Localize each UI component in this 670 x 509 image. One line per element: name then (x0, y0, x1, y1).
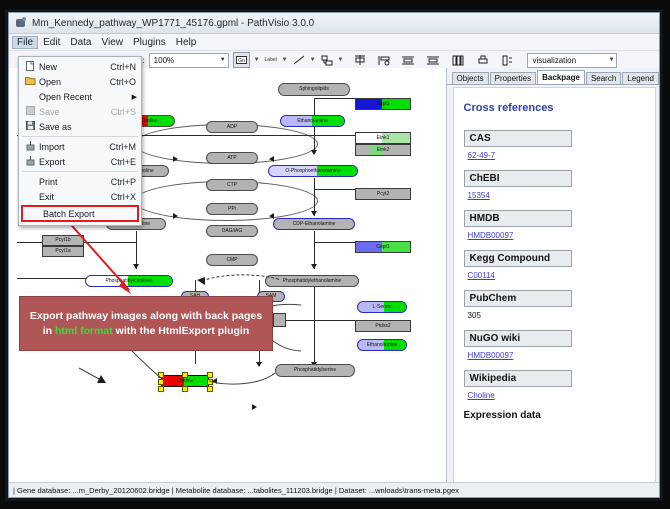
window-title: Mm_Kennedy_pathway_WP1771_45176.gpml - P… (32, 18, 314, 29)
menu-file[interactable]: File (12, 36, 38, 49)
tab-legend[interactable]: Legend (622, 72, 659, 84)
visualization-value: visualization (532, 56, 576, 65)
align-left-icon[interactable] (377, 53, 391, 67)
tab-properties[interactable]: Properties (490, 72, 536, 84)
tab-search[interactable]: Search (586, 72, 621, 84)
annotation-text-highlight: html format (55, 325, 113, 337)
send-to-back-icon[interactable] (426, 53, 440, 67)
menu-item-label: Save (39, 107, 111, 117)
xref-db-chebi: ChEBI (464, 170, 572, 187)
menu-item-new[interactable]: New Ctrl+N (19, 59, 141, 74)
xref-value-hmdb[interactable]: HMDB00097 (468, 231, 645, 240)
menu-item-label: Print (39, 177, 111, 187)
xref-value-pubchem: 305 (468, 311, 645, 320)
label-button[interactable]: Label (264, 53, 278, 67)
export-icon (21, 156, 39, 168)
menu-item-accel: Ctrl+X (111, 192, 141, 202)
menu-item-label: Open Recent (39, 92, 141, 102)
xref-link-nugo[interactable]: HMDB00097 (468, 351, 514, 360)
align-top-icon[interactable] (353, 53, 367, 67)
menu-item-accel: Ctrl+P (111, 177, 141, 187)
menu-help[interactable]: Help (171, 36, 202, 49)
annotation-text: Export pathway images along with back pa… (20, 309, 272, 337)
menu-item-open-recent[interactable]: Open Recent ▶ (19, 89, 141, 104)
xref-link-hmdb[interactable]: HMDB00097 (468, 231, 514, 240)
xref-value-cas[interactable]: 62-49-7 (468, 151, 645, 160)
file-menu-dropdown[interactable]: New Ctrl+N Open Ctrl+O Open Recent ▶ Sav… (18, 56, 142, 226)
menu-bar: File Edit Data View Plugins Help (9, 34, 659, 51)
xref-db-cas: CAS (464, 130, 572, 147)
side-panel: Objects Properties Backpage Search Legen… (447, 68, 659, 497)
datanode-icon[interactable]: Gn (233, 52, 250, 68)
line-tool-icon[interactable] (292, 53, 306, 67)
menu-item-export[interactable]: Export Ctrl+E (19, 154, 141, 169)
methylation-dashed-edge (202, 275, 281, 281)
expression-data-heading: Expression data (464, 410, 645, 421)
menu-item-label: Open (39, 77, 110, 87)
xref-value-nugo[interactable]: HMDB00097 (468, 351, 645, 360)
menu-item-save: Save Ctrl+S (19, 104, 141, 119)
menu-item-label: Exit (39, 192, 111, 202)
menu-item-label: Export (39, 157, 111, 167)
save-disk-icon (21, 106, 39, 117)
xref-link-wikipedia[interactable]: Choline (468, 391, 495, 400)
xref-value-kegg[interactable]: C00114 (468, 271, 645, 280)
methylation-arrowhead (197, 277, 205, 285)
menu-item-accel: Ctrl+S (111, 107, 141, 117)
cross-references-heading: Cross references (464, 102, 645, 114)
menu-item-exit[interactable]: Exit Ctrl+X (19, 189, 141, 204)
menu-item-open[interactable]: Open Ctrl+O (19, 74, 141, 89)
save-as-disk-icon (21, 121, 39, 132)
line-dropdown-icon[interactable]: ▼ (310, 57, 316, 63)
xref-db-wikipedia: Wikipedia (464, 370, 572, 387)
xref-value-chebi[interactable]: 15354 (468, 191, 645, 200)
backpage-content: Cross references CAS 62-49-7 ChEBI 15354… (454, 88, 655, 421)
menu-item-accel: Ctrl+E (111, 157, 141, 167)
import-icon (21, 141, 39, 153)
xref-value-wikipedia[interactable]: Choline (468, 391, 645, 400)
backpage-scroll-area[interactable]: Cross references CAS 62-49-7 ChEBI 15354… (453, 87, 656, 495)
shape-dropdown-icon[interactable]: ▼ (338, 57, 344, 63)
svg-text:Gn: Gn (238, 58, 245, 64)
menu-item-accel: Ctrl+M (109, 142, 141, 152)
zoom-value: 100% (154, 56, 174, 65)
menu-item-label: Batch Export (43, 209, 137, 219)
menu-item-save-as[interactable]: Save as (19, 119, 141, 134)
tab-backpage[interactable]: Backpage (537, 70, 585, 84)
menu-view[interactable]: View (96, 36, 128, 49)
screenshot-root: Mm_Kennedy_pathway_WP1771_45176.gpml - P… (0, 0, 670, 509)
label-dropdown-icon[interactable]: ▼ (282, 57, 288, 63)
annotation-callout: Export pathway images along with back pa… (19, 296, 273, 351)
xref-db-pubchem: PubChem (464, 290, 572, 307)
datanode-dropdown-icon[interactable]: ▼ (254, 57, 260, 63)
xref-db-hmdb: HMDB (464, 210, 572, 227)
xref-db-kegg: Kegg Compound (464, 250, 572, 267)
title-bar: Mm_Kennedy_pathway_WP1771_45176.gpml - P… (9, 13, 659, 34)
xref-db-nugo: NuGO wiki (464, 330, 572, 347)
pathvisio-app-icon (15, 17, 27, 29)
xref-link-chebi[interactable]: 15354 (468, 191, 490, 200)
chevron-right-icon: ▶ (132, 93, 137, 101)
menu-item-print[interactable]: Print Ctrl+P (19, 174, 141, 189)
menu-item-import[interactable]: Import Ctrl+M (19, 139, 141, 154)
chevron-down-icon: ▼ (609, 57, 615, 63)
xref-link-kegg[interactable]: C00114 (468, 271, 495, 280)
menu-item-accel: Ctrl+N (110, 62, 141, 72)
curve-left-down (79, 368, 101, 380)
new-document-icon (21, 61, 39, 73)
xref-link-cas[interactable]: 62-49-7 (468, 151, 496, 160)
bring-to-front-icon[interactable] (501, 53, 515, 67)
menu-item-label: Import (39, 142, 109, 152)
folder-open-icon (21, 76, 39, 87)
menu-item-batch-export[interactable]: Batch Export (21, 205, 139, 222)
curve-ptdser-to-choline (209, 373, 275, 384)
pathvisio-window: Mm_Kennedy_pathway_WP1771_45176.gpml - P… (8, 12, 660, 498)
common-size-icon[interactable] (451, 53, 465, 67)
menu-separator-2 (22, 171, 138, 172)
shape-tool-icon[interactable] (320, 53, 334, 67)
tab-objects[interactable]: Objects (452, 72, 489, 84)
side-panel-tabs: Objects Properties Backpage Search Legen… (447, 68, 659, 85)
menu-data[interactable]: Data (65, 36, 96, 49)
menu-item-label: New (39, 62, 110, 72)
menu-edit[interactable]: Edit (38, 36, 65, 49)
menu-item-accel: Ctrl+O (110, 77, 141, 87)
annotation-text-after: with the HtmlExport plugin (113, 325, 250, 337)
visualization-combo[interactable]: visualization ▼ (527, 53, 617, 68)
zoom-combo[interactable]: 100% ▼ (149, 53, 229, 68)
menu-item-label: Save as (39, 122, 136, 132)
menu-separator-1 (22, 136, 138, 137)
print-icon[interactable] (476, 53, 490, 67)
stack-icon[interactable] (401, 53, 415, 67)
chevron-down-icon: ▼ (220, 57, 226, 63)
menu-plugins[interactable]: Plugins (128, 36, 171, 49)
